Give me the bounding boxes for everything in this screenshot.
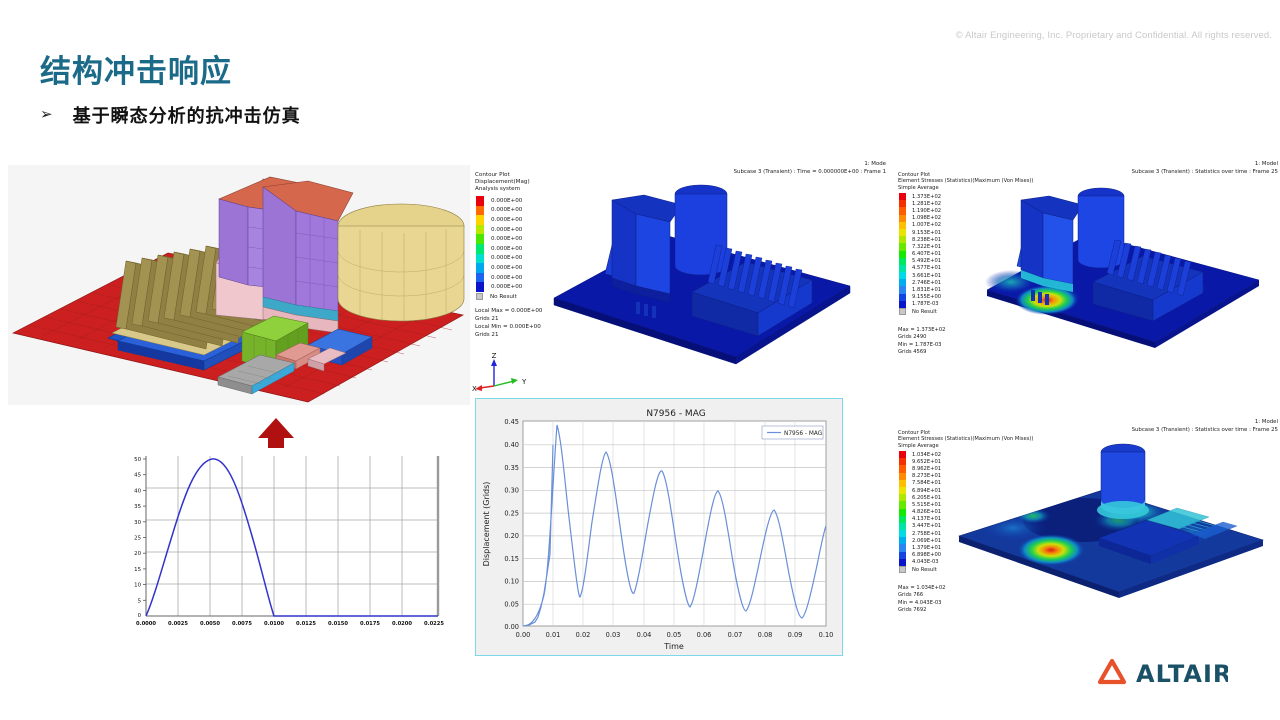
legend-level: 0.000E+00 — [476, 206, 522, 216]
svg-text:0.0150: 0.0150 — [328, 621, 348, 627]
legend-level: 2.069E+01 — [899, 537, 941, 544]
legend-level: 9.155E+00 — [899, 294, 941, 301]
svg-text:0.25: 0.25 — [504, 509, 519, 517]
legend-level: 6.407E+01 — [899, 251, 941, 258]
tall-block — [216, 177, 353, 333]
svg-text:0.00: 0.00 — [516, 631, 531, 639]
contour-legend-scale-2: 1.373E+02 1.281E+02 1.190E+02 1.098E+02 … — [899, 193, 941, 315]
altair-mark-icon — [1100, 661, 1124, 682]
svg-text:0: 0 — [138, 613, 142, 619]
svg-text:15: 15 — [134, 567, 141, 573]
triad-y-label: Y — [521, 378, 527, 386]
svg-text:0.03: 0.03 — [606, 631, 621, 639]
x-tick-labels: 0.00000.0025 0.00500.0075 0.01000.0125 0… — [136, 621, 444, 627]
legend-level: 0.000E+00 — [476, 263, 522, 273]
legend-level: 1.831E+01 — [899, 286, 941, 293]
bullet-arrow-icon: ➢ — [40, 107, 53, 122]
svg-text:0.09: 0.09 — [788, 631, 803, 639]
legend-level: 5.492E+01 — [899, 258, 941, 265]
legend-level: 6.894E+01 — [899, 487, 941, 494]
hv-header-2: 1: Model Subcase 3 (Transient) : Statist… — [978, 160, 1278, 176]
legend-level: 0.000E+00 — [476, 244, 522, 254]
svg-text:0.0225: 0.0225 — [424, 621, 444, 627]
svg-text:5: 5 — [138, 598, 141, 604]
hv-pane-stress-bottom: Contour Plot Element Stresses (Statistic… — [893, 418, 1280, 658]
page-title: 结构冲击响应 — [40, 46, 232, 91]
legend-level: 0.000E+00 — [476, 225, 522, 235]
svg-text:0.0050: 0.0050 — [200, 621, 220, 627]
svg-text:25: 25 — [134, 536, 141, 542]
shock-pulse-chart: 5045 4035 3025 2015 105 0 0.00000.0025 0… — [100, 448, 460, 638]
contour-legend-title-1: Contour Plot Displacement(Mag) Analysis … — [475, 172, 530, 193]
cad-model-panel — [8, 165, 470, 405]
legend-level: 9.153E+01 — [899, 229, 941, 236]
legend-level: 8.273E+01 — [899, 473, 941, 480]
svg-text:0.0175: 0.0175 — [360, 621, 380, 627]
svg-text:0.06: 0.06 — [697, 631, 712, 639]
contour-legend-scale-1: 0.000E+00 0.000E+00 0.000E+00 0.000E+00 … — [476, 196, 522, 302]
hv-pane-stress-top: Contour Plot Element Stresses (Statistic… — [893, 160, 1280, 395]
response-chart-panel: N7956 - MAG — [475, 398, 843, 656]
subtitle-row: ➢ 基于瞬态分析的抗冲击仿真 — [40, 102, 301, 128]
altair-logo: ALTAIR — [1098, 655, 1228, 693]
legend-level: 6.205E+01 — [899, 494, 941, 501]
svg-text:0.35: 0.35 — [504, 464, 519, 472]
legend-no-result: No Result — [899, 308, 941, 315]
svg-text:30: 30 — [134, 520, 141, 526]
legend-level: 7.322E+01 — [899, 243, 941, 250]
legend-level: 9.652E+01 — [899, 458, 941, 465]
legend-level: 4.137E+01 — [899, 516, 941, 523]
svg-text:0.04: 0.04 — [637, 631, 652, 639]
legend-level: 1.034E+02 — [899, 451, 941, 458]
legend-level: 4.577E+01 — [899, 265, 941, 272]
svg-text:0.08: 0.08 — [758, 631, 773, 639]
y-tick-labels: 5045 4035 3025 2015 105 0 — [134, 457, 141, 619]
svg-text:0.02: 0.02 — [576, 631, 591, 639]
legend-level: 0.000E+00 — [476, 234, 522, 244]
svg-text:0.05: 0.05 — [667, 631, 682, 639]
contour-legend-footer-1: Local Max = 0.000E+00 Grids 21 Local Min… — [475, 307, 542, 339]
legend-level: 1.190E+02 — [899, 207, 941, 214]
copyright-notice: © Altair Engineering, Inc. Proprietary a… — [862, 30, 1272, 41]
slide-root: © Altair Engineering, Inc. Proprietary a… — [0, 0, 1280, 720]
axis-triad-icon: Z Y X — [472, 352, 528, 396]
legend-level: 0.000E+00 — [476, 254, 522, 264]
response-chart-svg: N7956 - MAG — [476, 399, 842, 655]
legend-level: 3.661E+01 — [899, 272, 941, 279]
svg-text:0.07: 0.07 — [728, 631, 743, 639]
hv-pane-displacement: Contour Plot Displacement(Mag) Analysis … — [470, 160, 890, 395]
svg-text:35: 35 — [134, 504, 141, 510]
shock-pulse-svg: 5045 4035 3025 2015 105 0 0.00000.0025 0… — [100, 448, 460, 638]
svg-text:0.00: 0.00 — [504, 623, 519, 631]
chart-legend: N7956 - MAG — [762, 426, 823, 439]
svg-text:0.01: 0.01 — [546, 631, 561, 639]
hv-model-stress-top — [983, 178, 1278, 373]
contour-legend-footer-2: Max = 1.373E+02 Grids 2490 Min = 1.787E-… — [898, 327, 945, 357]
subtitle-text: 基于瞬态分析的抗冲击仿真 — [73, 102, 301, 128]
legend-level: 1.373E+02 — [899, 193, 941, 200]
legend-level: 2.758E+01 — [899, 530, 941, 537]
legend-no-result: No Result — [899, 566, 941, 573]
contour-legend-footer-3: Max = 1.034E+02 Grids 766 Min = 4.043E-0… — [898, 585, 945, 615]
legend-level: 7.584E+01 — [899, 480, 941, 487]
svg-text:0.0000: 0.0000 — [136, 621, 156, 627]
legend-level: 0.000E+00 — [476, 273, 522, 283]
svg-text:10: 10 — [134, 583, 141, 589]
triad-z-label: Z — [492, 352, 497, 360]
legend-level: 4.826E+01 — [899, 509, 941, 516]
legend-level: 0.000E+00 — [476, 196, 522, 206]
svg-text:0.0075: 0.0075 — [232, 621, 252, 627]
svg-text:45: 45 — [134, 473, 141, 479]
contour-legend-scale-3: 1.034E+02 9.652E+01 8.962E+01 8.273E+01 … — [899, 451, 941, 573]
svg-text:0.05: 0.05 — [504, 601, 519, 609]
svg-text:0.30: 0.30 — [504, 487, 519, 495]
legend-level: 0.000E+00 — [476, 282, 522, 292]
response-chart-title: N7956 - MAG — [646, 409, 705, 419]
legend-level: 4.043E-03 — [899, 559, 941, 566]
svg-text:40: 40 — [134, 488, 141, 494]
hv-model-displacement — [550, 174, 890, 389]
legend-level: 5.515E+01 — [899, 501, 941, 508]
svg-text:0.40: 0.40 — [504, 441, 519, 449]
legend-level: 8.962E+01 — [899, 465, 941, 472]
legend-level: 8.238E+01 — [899, 236, 941, 243]
altair-wordmark: ALTAIR — [1136, 660, 1228, 688]
legend-level: 6.898E+00 — [899, 552, 941, 559]
legend-label: N7956 - MAG — [784, 431, 823, 437]
triad-x-label: X — [472, 385, 477, 393]
svg-text:0.20: 0.20 — [504, 532, 519, 540]
legend-level: 2.746E+01 — [899, 279, 941, 286]
legend-level: 3.447E+01 — [899, 523, 941, 530]
svg-text:20: 20 — [134, 551, 141, 557]
hv-model-stress-bottom — [951, 428, 1280, 648]
no-result-swatch — [899, 566, 906, 573]
svg-text:50: 50 — [134, 457, 141, 463]
legend-level: 1.379E+01 — [899, 544, 941, 551]
svg-text:0.45: 0.45 — [504, 418, 519, 426]
no-result-swatch — [476, 293, 483, 300]
svg-text:0.0100: 0.0100 — [264, 621, 284, 627]
legend-level: 1.281E+02 — [899, 200, 941, 207]
legend-level: 1.098E+02 — [899, 215, 941, 222]
svg-text:0.0200: 0.0200 — [392, 621, 412, 627]
svg-text:0.15: 0.15 — [504, 555, 519, 563]
legend-no-result: No Result — [476, 292, 522, 302]
cad-model-graphic — [8, 165, 470, 405]
y-axis-label: Displacement (Grids) — [482, 482, 491, 567]
legend-level: 1.007E+02 — [899, 222, 941, 229]
cylinder — [338, 204, 464, 321]
svg-text:0.0125: 0.0125 — [296, 621, 316, 627]
legend-level: 0.000E+00 — [476, 215, 522, 225]
svg-text:0.10: 0.10 — [504, 578, 519, 586]
svg-text:0.0025: 0.0025 — [168, 621, 188, 627]
x-axis-label: Time — [663, 642, 684, 651]
legend-level: 1.787E-03 — [899, 301, 941, 308]
svg-text:0.10: 0.10 — [819, 631, 834, 639]
no-result-swatch — [899, 308, 906, 315]
